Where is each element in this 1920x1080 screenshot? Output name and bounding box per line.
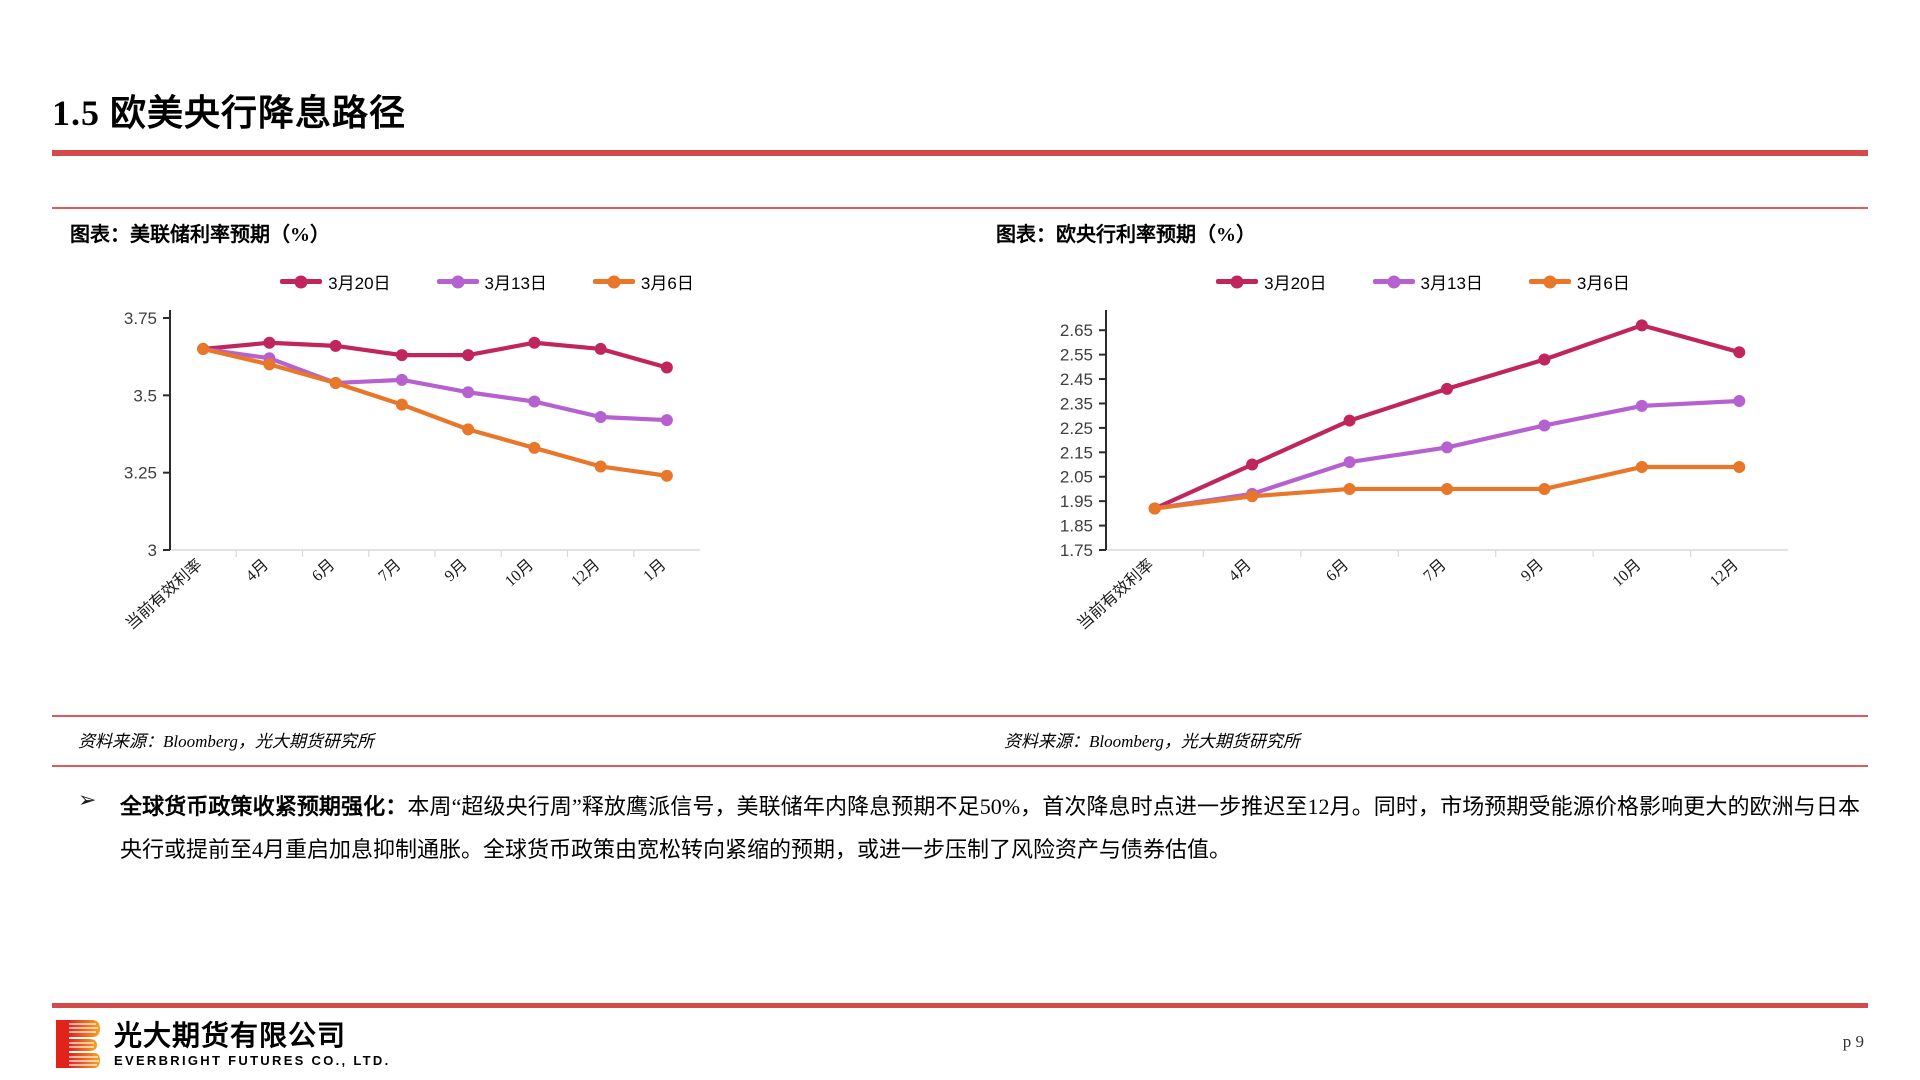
svg-text:6月: 6月	[309, 556, 338, 585]
header-rule-thin	[52, 207, 1868, 209]
svg-text:3: 3	[148, 541, 157, 560]
company-name-cn: 光大期货有限公司	[114, 1022, 391, 1050]
svg-text:1.95: 1.95	[1060, 492, 1093, 511]
line-chart-fed: 33.253.53.75当前有效利率4月6月7月9月10月12月1月	[52, 300, 922, 670]
legend-label: 3月13日	[1421, 269, 1483, 294]
source-note-fed: 资料来源：Bloomberg，光大期货研究所	[78, 727, 374, 752]
svg-text:2.25: 2.25	[1060, 419, 1093, 438]
svg-text:3.5: 3.5	[133, 386, 157, 405]
legend-swatch-icon	[437, 279, 479, 284]
legend-item-0[interactable]: 3月20日	[1216, 269, 1326, 294]
legend-swatch-icon	[1373, 279, 1415, 284]
svg-text:当前有效利率: 当前有效利率	[122, 556, 205, 634]
logo-text: 光大期货有限公司 EVERBRIGHT FUTURES CO., LTD.	[114, 1022, 391, 1067]
chart-legend-fed: 3月20日 3月13日 3月6日	[52, 269, 922, 294]
legend-item-0[interactable]: 3月20日	[280, 269, 390, 294]
chart-panel-ecb: 图表：欧央行利率预期（%） 3月20日 3月13日 3月6日 1.751.851…	[978, 212, 1868, 712]
chart-caption-fed: 图表：美联储利率预期（%）	[52, 212, 922, 247]
slide-root: 1.5 欧美央行降息路径 图表：美联储利率预期（%） 3月20日 3月13日 3…	[0, 0, 1920, 1080]
svg-text:4月: 4月	[243, 556, 272, 585]
svg-text:3.25: 3.25	[124, 464, 157, 483]
bullet-block: ➢ 全球货币政策收紧预期强化：本周“超级央行周”释放鹰派信号，美联储年内降息预期…	[78, 786, 1860, 872]
svg-text:12月: 12月	[568, 556, 603, 590]
line-chart-ecb: 1.751.851.952.052.152.252.352.452.552.65…	[978, 300, 1868, 670]
svg-text:9月: 9月	[1518, 556, 1547, 585]
legend-item-1[interactable]: 3月13日	[437, 269, 547, 294]
chart-caption-ecb: 图表：欧央行利率预期（%）	[978, 212, 1868, 247]
svg-text:12月: 12月	[1707, 556, 1742, 590]
source-rule-top	[52, 715, 1868, 717]
source-rule-bottom	[52, 765, 1868, 767]
legend-swatch-icon	[1216, 279, 1258, 284]
svg-text:1月: 1月	[640, 556, 669, 585]
legend-label: 3月13日	[485, 269, 547, 294]
svg-text:4月: 4月	[1226, 556, 1255, 585]
svg-text:7月: 7月	[375, 556, 404, 585]
chart-panel-fed: 图表：美联储利率预期（%） 3月20日 3月13日 3月6日 33.253.53…	[52, 212, 922, 712]
page-title: 1.5 欧美央行降息路径	[52, 84, 406, 136]
everbright-logo-icon	[56, 1020, 100, 1068]
svg-text:1.75: 1.75	[1060, 541, 1093, 560]
svg-text:9月: 9月	[442, 556, 471, 585]
bullet-arrow-icon: ➢	[78, 788, 96, 813]
company-logo: 光大期货有限公司 EVERBRIGHT FUTURES CO., LTD.	[56, 1020, 391, 1068]
source-note-ecb: 资料来源：Bloomberg，光大期货研究所	[1004, 727, 1300, 752]
svg-text:10月: 10月	[1609, 556, 1644, 590]
svg-text:7月: 7月	[1420, 556, 1449, 585]
svg-text:2.05: 2.05	[1060, 468, 1093, 487]
company-name-en: EVERBRIGHT FUTURES CO., LTD.	[114, 1054, 391, 1067]
legend-item-1[interactable]: 3月13日	[1373, 269, 1483, 294]
legend-label: 3月20日	[1264, 269, 1326, 294]
svg-text:2.45: 2.45	[1060, 370, 1093, 389]
footer-rule	[52, 1003, 1868, 1008]
svg-text:2.65: 2.65	[1060, 321, 1093, 340]
header-rule-thick	[52, 150, 1868, 156]
svg-text:2.55: 2.55	[1060, 346, 1093, 365]
svg-text:2.35: 2.35	[1060, 394, 1093, 413]
svg-text:10月: 10月	[502, 556, 537, 590]
page-number: p 9	[1843, 1032, 1864, 1052]
svg-text:当前有效利率: 当前有效利率	[1074, 556, 1157, 634]
chart-legend-ecb: 3月20日 3月13日 3月6日	[978, 269, 1868, 294]
legend-swatch-icon	[280, 279, 322, 284]
plot-area-ecb: 1.751.851.952.052.152.252.352.452.552.65…	[978, 300, 1868, 670]
svg-text:3.75: 3.75	[124, 309, 157, 328]
legend-label: 3月20日	[328, 269, 390, 294]
bullet-lead: 全球货币政策收紧预期强化：	[120, 794, 407, 819]
svg-text:1.85: 1.85	[1060, 517, 1093, 536]
legend-label: 3月6日	[641, 269, 694, 294]
legend-swatch-icon	[1529, 279, 1571, 284]
legend-swatch-icon	[593, 279, 635, 284]
legend-item-2[interactable]: 3月6日	[1529, 269, 1630, 294]
bullet-paragraph: 全球货币政策收紧预期强化：本周“超级央行周”释放鹰派信号，美联储年内降息预期不足…	[120, 786, 1860, 872]
legend-item-2[interactable]: 3月6日	[593, 269, 694, 294]
svg-text:6月: 6月	[1323, 556, 1352, 585]
svg-text:2.15: 2.15	[1060, 443, 1093, 462]
legend-label: 3月6日	[1577, 269, 1630, 294]
plot-area-fed: 33.253.53.75当前有效利率4月6月7月9月10月12月1月	[52, 300, 922, 670]
